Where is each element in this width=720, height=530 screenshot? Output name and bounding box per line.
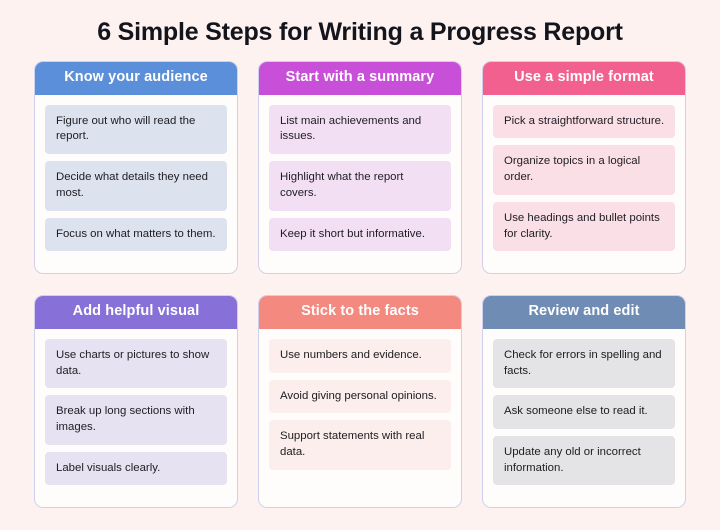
card-header: Review and edit <box>483 296 685 329</box>
card-item: Figure out who will read the report. <box>45 105 227 154</box>
step-card-know-your-audience: Know your audience Figure out who will r… <box>34 61 238 274</box>
step-card-add-helpful-visual: Add helpful visual Use charts or picture… <box>34 295 238 508</box>
card-item: Ask someone else to read it. <box>493 395 675 429</box>
card-item: List main achievements and issues. <box>269 105 451 154</box>
step-card-stick-to-the-facts: Stick to the facts Use numbers and evide… <box>258 295 462 508</box>
card-item: Decide what details they need most. <box>45 161 227 210</box>
card-item: Avoid giving personal opinions. <box>269 380 451 414</box>
card-header: Know your audience <box>35 62 237 95</box>
card-body: Pick a straightforward structure. Organi… <box>483 95 685 273</box>
card-body: Use numbers and evidence. Avoid giving p… <box>259 329 461 507</box>
card-item: Check for errors in spelling and facts. <box>493 339 675 388</box>
step-card-start-with-a-summary: Start with a summary List main achieveme… <box>258 61 462 274</box>
card-item: Label visuals clearly. <box>45 452 227 486</box>
card-body: Check for errors in spelling and facts. … <box>483 329 685 507</box>
card-header: Use a simple format <box>483 62 685 95</box>
card-header: Add helpful visual <box>35 296 237 329</box>
card-header: Stick to the facts <box>259 296 461 329</box>
card-item: Break up long sections with images. <box>45 395 227 444</box>
card-item: Use charts or pictures to show data. <box>45 339 227 388</box>
card-header: Start with a summary <box>259 62 461 95</box>
card-item: Support statements with real data. <box>269 420 451 469</box>
card-item: Highlight what the report covers. <box>269 161 451 210</box>
card-body: Figure out who will read the report. Dec… <box>35 95 237 273</box>
card-body: List main achievements and issues. Highl… <box>259 95 461 273</box>
card-item: Organize topics in a logical order. <box>493 145 675 194</box>
page-title: 6 Simple Steps for Writing a Progress Re… <box>34 18 686 47</box>
step-card-use-a-simple-format: Use a simple format Pick a straightforwa… <box>482 61 686 274</box>
card-item: Keep it short but informative. <box>269 218 451 252</box>
card-item: Use numbers and evidence. <box>269 339 451 373</box>
card-item: Update any old or incorrect information. <box>493 436 675 485</box>
card-item: Pick a straightforward structure. <box>493 105 675 139</box>
card-item: Use headings and bullet points for clari… <box>493 202 675 251</box>
step-card-review-and-edit: Review and edit Check for errors in spel… <box>482 295 686 508</box>
steps-grid: Know your audience Figure out who will r… <box>34 61 686 508</box>
card-body: Use charts or pictures to show data. Bre… <box>35 329 237 507</box>
card-item: Focus on what matters to them. <box>45 218 227 252</box>
infographic-poster: 6 Simple Steps for Writing a Progress Re… <box>0 0 720 530</box>
